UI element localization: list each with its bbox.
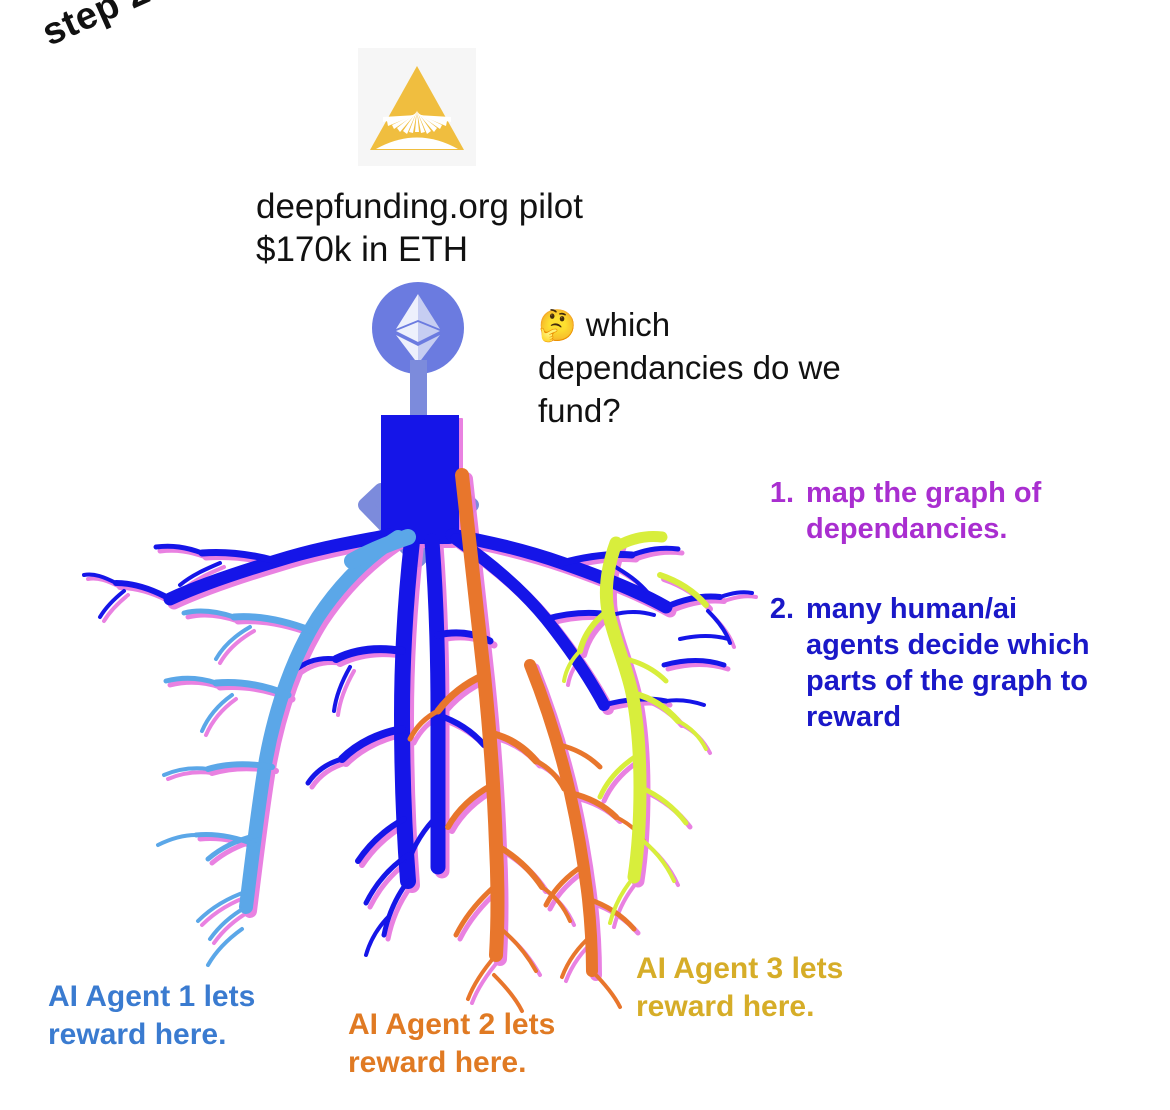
- instruction-list: 1. map the graph of dependancies. 2. man…: [748, 476, 1160, 736]
- agent-2-caption: AI Agent 2 lets reward here.: [348, 1006, 555, 1081]
- deepfunding-logo-tile: [358, 48, 476, 166]
- list-item-2: 2. many human/ai agents decide which par…: [748, 592, 1160, 736]
- triangle-sunburst-icon: [358, 48, 476, 166]
- dependency-root-tree: [60, 415, 780, 1015]
- question-text: 🤔 which dependancies do we fund?: [538, 304, 908, 433]
- thinking-face-icon: 🤔: [538, 308, 577, 343]
- diagram-canvas: step 2 deepfunding.o: [0, 0, 1170, 1110]
- list-item-1-text: map the graph of dependancies.: [806, 476, 1160, 548]
- question-body: which dependancies do we fund?: [538, 306, 841, 429]
- step-label: step 2: [36, 0, 157, 55]
- list-item-1: 1. map the graph of dependancies.: [748, 476, 1160, 548]
- list-item-2-number: 2.: [748, 592, 806, 628]
- agent-3-caption: AI Agent 3 lets reward here.: [636, 950, 843, 1025]
- page-title: deepfunding.org pilot $170k in ETH: [256, 186, 583, 271]
- ethereum-coin-icon: [372, 282, 464, 374]
- list-item-1-number: 1.: [748, 476, 806, 512]
- agent-1-caption: AI Agent 1 lets reward here.: [48, 978, 255, 1053]
- list-item-2-text: many human/ai agents decide which parts …: [806, 592, 1160, 736]
